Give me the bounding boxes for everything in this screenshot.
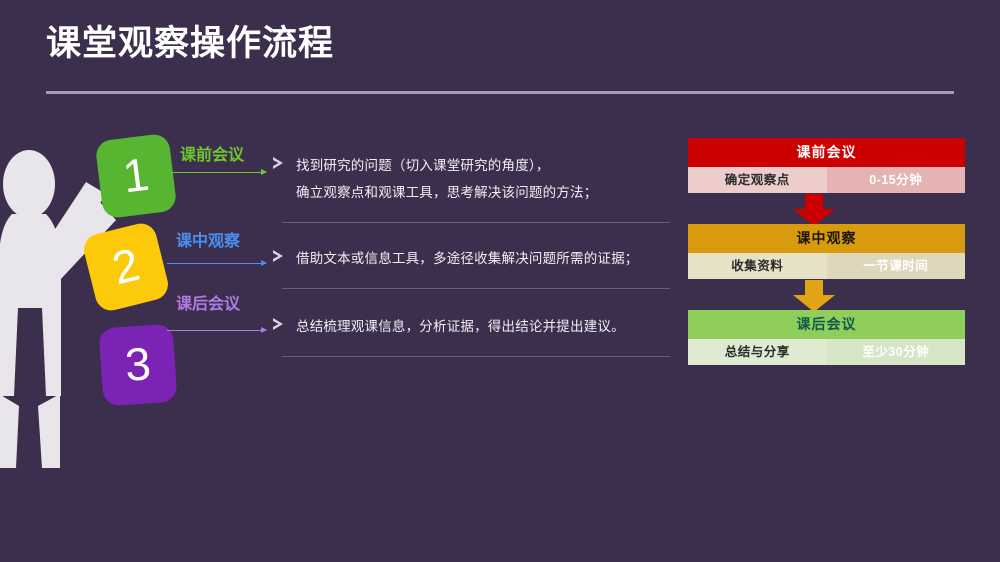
- stage-tile-1-number: 1: [120, 151, 151, 200]
- flow-box-2-task: 收集资料: [688, 253, 827, 279]
- flow-box-3-body: 总结与分享 至少30分钟: [688, 339, 965, 365]
- flow-box-1-task: 确定观察点: [688, 167, 827, 193]
- flow-box-3-duration: 至少30分钟: [827, 339, 966, 365]
- bullet-3-line-1: 总结梳理观课信息，分析证据，得出结论并提出建议。: [296, 313, 670, 340]
- flow-box-pre-class[interactable]: 课前会议 确定观察点 0-15分钟: [688, 138, 965, 193]
- flow-box-1-duration: 0-15分钟: [827, 167, 966, 193]
- bullet-divider-2: [282, 288, 670, 289]
- chevron-right-icon: [272, 317, 285, 331]
- chevron-right-icon: [272, 156, 285, 170]
- flow-box-2-body: 收集资料 一节课时间: [688, 253, 965, 279]
- flow-arrow-down-gold-icon: [792, 280, 836, 312]
- slide-canvas: 课堂观察操作流程 1 2 3 课前会议 课中观察 课后会议 找到研究的问: [0, 0, 1000, 562]
- bullet-row-2: 借助文本或信息工具，多途径收集解决问题所需的证据；: [272, 245, 670, 272]
- bullet-text-3: 总结梳理观课信息，分析证据，得出结论并提出建议。: [296, 313, 670, 340]
- stage-tile-3-number: 3: [124, 340, 153, 388]
- bullet-row-3: 总结梳理观课信息，分析证据，得出结论并提出建议。: [272, 313, 670, 340]
- stage-tile-3[interactable]: 3: [98, 324, 177, 407]
- connector-arrow-1: [171, 172, 266, 173]
- connector-arrow-3: [167, 330, 266, 331]
- stage-label-3: 课后会议: [176, 297, 240, 313]
- stage-label-2: 课中观察: [176, 234, 240, 250]
- bullet-divider-3: [282, 356, 670, 357]
- stage-label-1: 课前会议: [180, 148, 244, 164]
- flow-box-1-header: 课前会议: [688, 138, 965, 167]
- bullet-1-line-2: 确立观察点和观课工具，思考解决该问题的方法；: [296, 179, 670, 206]
- flow-box-3-task: 总结与分享: [688, 339, 827, 365]
- bullet-row-1: 找到研究的问题（切入课堂研究的角度）， 确立观察点和观课工具，思考解决该问题的方…: [272, 152, 670, 206]
- bullet-divider-1: [282, 222, 670, 223]
- flow-box-in-class[interactable]: 课中观察 收集资料 一节课时间: [688, 224, 965, 279]
- flow-box-2-header: 课中观察: [688, 224, 965, 253]
- bullet-text-2: 借助文本或信息工具，多途径收集解决问题所需的证据；: [296, 245, 670, 272]
- stage-tile-2-number: 2: [108, 241, 144, 292]
- flow-box-post-class[interactable]: 课后会议 总结与分享 至少30分钟: [688, 310, 965, 365]
- flow-box-1-body: 确定观察点 0-15分钟: [688, 167, 965, 193]
- bullet-2-line-1: 借助文本或信息工具，多途径收集解决问题所需的证据；: [296, 245, 670, 272]
- flow-box-3-header: 课后会议: [688, 310, 965, 339]
- connector-arrow-2: [167, 263, 266, 264]
- title-divider: [46, 91, 954, 94]
- page-title: 课堂观察操作流程: [46, 20, 334, 68]
- bullet-text-1: 找到研究的问题（切入课堂研究的角度）， 确立观察点和观课工具，思考解决该问题的方…: [296, 152, 670, 206]
- flow-arrow-down-red-icon: [792, 194, 836, 226]
- bullet-1-line-1: 找到研究的问题（切入课堂研究的角度），: [296, 152, 670, 179]
- flow-box-2-duration: 一节课时间: [827, 253, 966, 279]
- stage-tile-1[interactable]: 1: [95, 133, 178, 219]
- chevron-right-icon: [272, 249, 285, 263]
